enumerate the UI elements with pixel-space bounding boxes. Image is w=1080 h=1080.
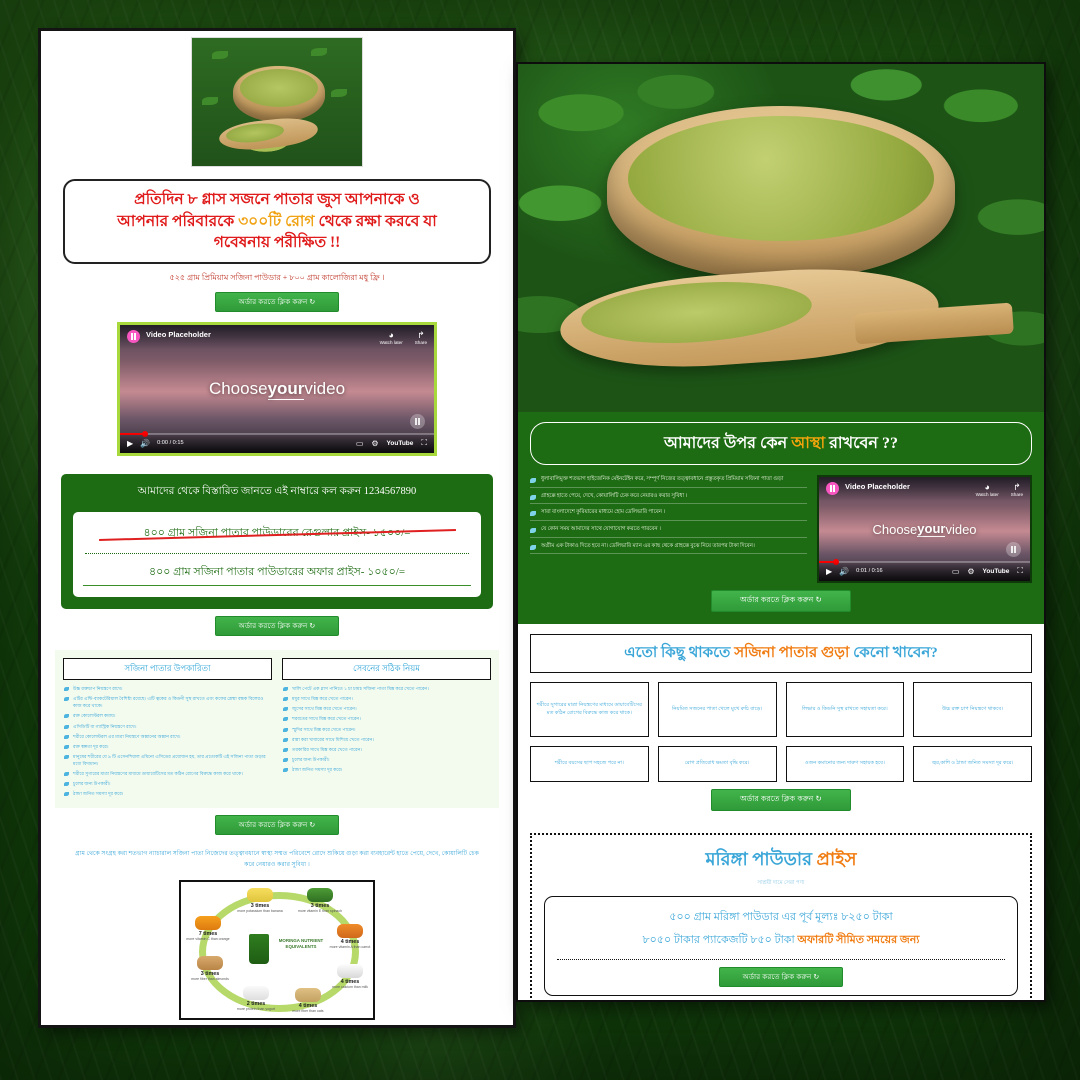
benefit-cell: শরীরে সুগারের মাত্রা নিয়ন্ত্রণের মাধ্যম… [530, 682, 649, 737]
list-item: অগ্রীম এক টাকাও দিতে হবে না। ডেলিভারি ম্… [530, 542, 807, 555]
volume-icon[interactable]: 🔊 [839, 567, 849, 576]
list-item: জুসের সাথে মিক্স করে খেতে পারেন। [282, 705, 491, 712]
benefits-column: সজিনা পাতার উপকারিতা উচ্চ রক্তচাপ নিয়ন্… [63, 658, 272, 800]
headline-line-1: প্রতিদিন ৮ গ্লাস সজনে পাতার জুস আপনাকে ও [134, 191, 420, 208]
benefit-cell: জ্বর,কাশি ও ঠান্ডা জনিত সমস্যা দূর করে। [913, 746, 1032, 782]
infographic-item: 3 times more potassium than banana [237, 888, 283, 913]
benefits-grid-row-2: শরীরে বয়সের ছাপ সহজে পরে না। রোগ প্রতির… [530, 746, 1032, 782]
list-item: এটির এন্টি-ব্যাকটেরিয়াল বৈশিষ্ট্য রয়েছ… [63, 695, 272, 709]
offer-limited-highlight: অফারটি সীমিত সময়ের জন্য [797, 934, 919, 946]
infographic-item: 2 times more protein than yogurt [233, 986, 279, 1011]
benefit-cell: ওজন কমানোর জন্য দারুণ সহায়ক হবে। [786, 746, 905, 782]
moringa-price-title: মরিঙ্গা পাউডার প্রাইস [544, 845, 1018, 876]
list-item: শরীরে সুগারের মাত্রা নিয়ন্ত্রণের মাধ্যম… [63, 770, 272, 777]
play-icon[interactable]: ▶ [127, 439, 133, 448]
infographic-item: 3 times more vitamin E than spinach [297, 888, 343, 913]
list-item: ঠান্ডা জনিত সমস্যা দূর করে। [63, 790, 272, 797]
benefits-title: সজিনা পাতার উপকারিতা [63, 658, 272, 680]
headline-line-2a: আপনার পরিবারকে [117, 213, 238, 230]
benefits-section: এতো কিছু থাকতে সজিনা পাতার গুড়া কেনো খা… [518, 624, 1044, 823]
benefits-grid-row-1: শরীরে সুগারের মাত্রা নিয়ন্ত্রণের মাধ্যম… [530, 682, 1032, 737]
youtube-brand[interactable]: YouTube [387, 440, 414, 447]
headline-highlight: ৩০০টি রোগ [238, 213, 314, 230]
nutrition-note: গ্রাম থেকে সংগ্রহ করা শতভাগ ন্যাচারাল সজ… [75, 849, 479, 870]
price-title-highlight: প্রাইস [817, 849, 857, 869]
benefits-usage-row: সজিনা পাতার উপকারিতা উচ্চ রক্তচাপ নিয়ন্… [55, 650, 499, 808]
price-card: ৪০০ গ্রাম সজিনা পাতার পাউডারের রেগুলার প… [73, 512, 481, 597]
list-item: শরীরে কোলেস্টরল এর মাত্রা নিয়ন্ত্রণে অক… [63, 733, 272, 740]
benefit-cell: শরীরে বয়সের ছাপ সহজে পরে না। [530, 746, 649, 782]
youtube-brand[interactable]: YouTube [983, 568, 1010, 575]
fullscreen-icon[interactable]: ⛶ [1017, 566, 1023, 576]
video-watermark-icon [410, 414, 425, 429]
order-cta-moringa-price[interactable]: অর্ডার করতে ক্লিক করুন ↻ [719, 967, 843, 987]
list-item: তরকারির সাথে মিক্স করে খেতে পারেন। [282, 746, 491, 753]
list-item: খালি পেটে এক গ্লাস পানিতে ১ চা চামচ সজিন… [282, 685, 491, 692]
list-item: এসিডিটি বা গ্যাস্ট্রিক নিয়ন্ত্রণে রাখে। [63, 723, 272, 730]
volume-icon[interactable]: 🔊 [140, 439, 150, 448]
list-item: মানুষের শরীরের যে ৯ টি এসেনশিয়াল এমিনো … [63, 753, 272, 767]
call-number-text: আমাদের থেকে বিস্তারিত জানতে এই নাম্বারে … [73, 484, 481, 501]
regular-price: ৪০০ গ্রাম সজিনা পাতার পাউডারের রেগুলার প… [83, 523, 471, 544]
list-item: মধুর সাথে মিক্স করে খেতে পারেন। [282, 695, 491, 702]
list-item: চুলের জন্য উপকারী। [63, 780, 272, 787]
price-divider [85, 553, 469, 554]
moringa-offer-price: ৮০৫০ টাকার প্যাকেজটি ৮৫০ টাকা অফারটি সীম… [555, 929, 1007, 952]
infographic-item: 4 times more vitamin A than carrot [327, 924, 373, 949]
benefits-heading: এতো কিছু থাকতে সজিনা পাতার গুড়া কেনো খা… [530, 634, 1032, 673]
moringa-nutrient-infographic: MORINGA NUTRIENT EQUIVALENTS 3 times mor… [179, 880, 375, 1020]
usage-title: সেবনের সঠিক নিয়ম [282, 658, 491, 680]
product-image [191, 37, 363, 167]
headline-line-2b: থেকে রক্ষা করবে যা [315, 213, 437, 230]
infographic-center-title: MORINGA NUTRIENT EQUIVALENTS [273, 938, 329, 950]
list-item: রান্না করা খাবারের সাথে মিশিয়ে খেতে পার… [282, 736, 491, 743]
infographic-item: 3 times more fiber than almonds [187, 956, 233, 981]
trust-heading-highlight: আস্থা [791, 435, 825, 452]
usage-items: খালি পেটে এক গ্লাস পানিতে ১ চা চামচ সজিন… [282, 685, 491, 773]
list-item: ঠান্ডা জনিত সমস্যা দূর করে। [282, 766, 491, 773]
right-landing-page-panel: আমাদের উপর কেন আস্থা রাখবেন ?? ধুলাবালিম… [516, 62, 1046, 1002]
headline-box: প্রতিদিন ৮ গ্লাস সজনে পাতার জুস আপনাকে ও… [63, 179, 491, 264]
list-item: উচ্চ রক্তচাপ নিয়ন্ত্রণে রাখে। [63, 685, 272, 692]
settings-gear-icon[interactable]: ⚙ [371, 439, 378, 448]
play-icon[interactable]: ▶ [826, 567, 832, 576]
headline-line-3: গবেষনায় পরীক্ষিত !! [214, 234, 341, 251]
order-cta-benefits[interactable]: অর্ডার করতে ক্লিক করুন ↻ [711, 789, 851, 811]
list-item: রক্ত স্বল্পতা দূর করে। [63, 743, 272, 750]
trust-list: ধুলাবালিমুক্ত শতভাগ হাইজেনিক মেইনটেইন কর… [530, 475, 807, 583]
usage-column: সেবনের সঠিক নিয়ম খালি পেটে এক গ্লাস পান… [282, 658, 491, 800]
benefits-heading-highlight: সজিনা পাতার গুড়া [734, 645, 849, 661]
moringa-old-price: ৫০০ গ্রাম মরিঙ্গা পাউডার এর পূর্ব মূল্যঃ… [555, 906, 1007, 929]
order-cta-price[interactable]: অর্ডার করতে ক্লিক করুন ↻ [215, 616, 339, 636]
order-cta-top[interactable]: অর্ডার করতে ক্লিক করুন ↻ [215, 292, 339, 312]
video-player-right[interactable]: Video Placeholder ◕Watch later ↱Share Ch… [817, 475, 1032, 583]
moringa-price-section: মরিঙ্গা পাউডার প্রাইস সাশ্রয়ী দামে সেরা… [530, 833, 1032, 1002]
moringa-price-subtitle: সাশ্রয়ী দামে সেরা পণ্য [544, 880, 1018, 888]
infographic-item: 7 times more vitamin C than orange [185, 916, 231, 941]
list-item: সারা বাংলাদেশে কুরিয়ারের মাধ্যমে হোম ডে… [530, 508, 807, 521]
list-item: ধুলাবালিমুক্ত শতভাগ হাইজেনিক মেইনটেইন কর… [530, 475, 807, 488]
offer-price: ৪০০ গ্রাম সজিনা পাতার পাউডারের অফার প্রা… [83, 563, 471, 586]
moringa-price-box: ৫০০ গ্রাম মরিঙ্গা পাউডার এর পূর্ব মূল্যঃ… [544, 896, 1018, 996]
video-time: 0:01 / 0:16 [856, 568, 882, 574]
trust-heading: আমাদের উপর কেন আস্থা রাখবেন ?? [530, 422, 1032, 465]
subtitles-icon[interactable]: ▭ [952, 567, 960, 576]
video-player-left[interactable]: Video Placeholder ◕Watch later ↱Share Ch… [117, 322, 437, 456]
list-item: রক্ত কোলেস্টরল কমায়। [63, 712, 272, 719]
benefit-cell: উচ্চ রক্ত চাপ নিয়ন্ত্রণে থাকবে। [913, 682, 1032, 737]
infographic-item: 4 times more calcium than milk [327, 964, 373, 989]
order-cta-lists[interactable]: অর্ডার করতে ক্লিক করুন ↻ [215, 815, 339, 835]
trust-section: আমাদের উপর কেন আস্থা রাখবেন ?? ধুলাবালিম… [518, 412, 1044, 624]
list-item: যে কোন সময় আমাদের সাথে যোগাযোগ করতে পার… [530, 525, 807, 538]
fullscreen-icon[interactable]: ⛶ [421, 438, 427, 448]
price-divider [557, 959, 1005, 960]
benefit-cell: রোগ প্রতিরোধ ক্ষমতা বৃদ্ধি করে। [658, 746, 777, 782]
video-watermark-icon [1006, 542, 1021, 557]
left-landing-page-panel: প্রতিদিন ৮ গ্লাস সজনে পাতার জুস আপনাকে ও… [38, 28, 516, 1028]
benefit-cell: লিভার ও কিডনি সুস্থ রাখতে সহায়তা করে। [786, 682, 905, 737]
list-item: গ্রাহক্কে হাতে পেয়ে, দেখে, কোয়ালিটি চে… [530, 492, 807, 505]
subheadline: ৫২৫ গ্রাম প্রিমিয়াম সজিনা পাউডার + ৮০০ … [41, 272, 513, 285]
video-time: 0:00 / 0:15 [157, 440, 183, 446]
order-cta-trust[interactable]: অর্ডার করতে ক্লিক করুন ↻ [711, 590, 851, 612]
list-item: স্মুদির সাথে মিক্স করে খেতে পারেন। [282, 726, 491, 733]
benefit-cell: নিয়মিত সজনের পাতা খেলে মুখে রুচি বাড়ে। [658, 682, 777, 737]
infographic-item: 4 times more fiber than oats [285, 988, 331, 1013]
settings-gear-icon[interactable]: ⚙ [967, 567, 974, 576]
list-item: শরবতের সাথে মিক্স করে খেতে পারেন। [282, 715, 491, 722]
list-item: চুলের জন্য উপকারী। [282, 756, 491, 763]
call-and-price-box: আমাদের থেকে বিস্তারিত জানতে এই নাম্বারে … [61, 474, 493, 609]
benefits-items: উচ্চ রক্তচাপ নিয়ন্ত্রণে রাখে। এটির এন্ট… [63, 685, 272, 797]
hero-image [518, 64, 1044, 412]
subtitles-icon[interactable]: ▭ [356, 439, 364, 448]
